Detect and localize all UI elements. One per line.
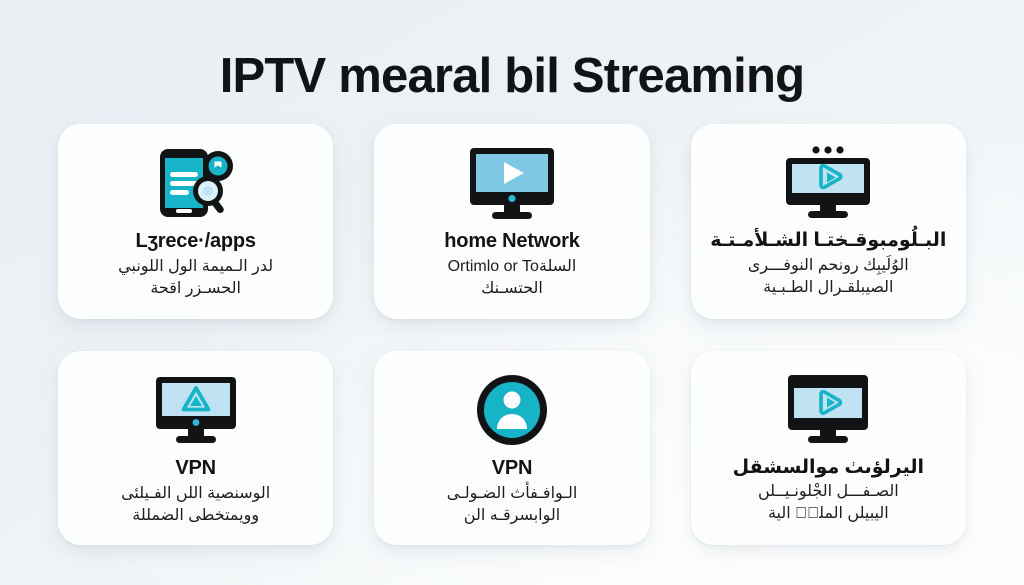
card-body: Ortimlo or Toالسلة الحتسـنك bbox=[448, 256, 577, 300]
page-title: IPTV mearal bil Streaming bbox=[220, 48, 805, 104]
card-body: الوُلَيبِك رونحم النوفـــرى الصيبلقـرال … bbox=[748, 255, 909, 299]
infographic-root: IPTV mearal bil Streaming bbox=[0, 0, 1024, 585]
feature-card[interactable]: اليرلؤںٺ موالسشقل الصـفـــل الجْلونـيــل… bbox=[691, 351, 966, 546]
card-body: الوسنصية اللں الفـيلئى وويمتخطى الضمللة bbox=[121, 483, 270, 527]
title-section: IPTV mearal bil Streaming bbox=[58, 34, 966, 118]
card-body-line: الوُلَيبِك رونحم النوفـــرى bbox=[748, 255, 909, 277]
smartphone-search-icon bbox=[148, 146, 244, 220]
desktop-play-dots-icon bbox=[782, 146, 874, 220]
card-body-line: الوسنصية اللں الفـيلئى bbox=[121, 483, 270, 505]
card-body-line: الصـفـــل الجْلونـيــلں bbox=[758, 481, 899, 503]
card-heading: VPN bbox=[492, 457, 533, 480]
feature-card[interactable]: VPN الوسنصية اللں الفـيلئى وويمتخطى الضم… bbox=[58, 351, 333, 546]
feature-card-grid: Lʒrece·/apps لدر الـميمة الول اللونبي ال… bbox=[58, 118, 966, 545]
card-body-line: Ortimlo or Toالسلة bbox=[448, 256, 577, 278]
card-body-line: اليبيلں الملںٖ الية bbox=[758, 503, 899, 525]
card-body-line: لدر الـميمة الول اللونبي bbox=[118, 256, 273, 278]
card-body: الـوافـفأث الضـولـى الوابسرقـه الن bbox=[447, 483, 578, 527]
three-dots-icon bbox=[813, 146, 844, 153]
card-heading: Lʒrece·/apps bbox=[135, 230, 255, 253]
card-body-line: وويمتخطى الضمللة bbox=[121, 505, 270, 527]
card-body-line: الوابسرقـه الن bbox=[447, 505, 578, 527]
desktop-triangle-icon bbox=[150, 373, 242, 447]
card-body: لدر الـميمة الول اللونبي الحسـزر اقحة bbox=[118, 256, 273, 300]
card-body-line: الحسـزر اقحة bbox=[118, 278, 273, 300]
card-heading: VPN bbox=[175, 457, 216, 480]
feature-card[interactable]: VPN الـوافـفأث الضـولـى الوابسرقـه الن bbox=[374, 351, 649, 546]
card-body-line: الـوافـفأث الضـولـى bbox=[447, 483, 578, 505]
card-heading: home Network bbox=[444, 230, 579, 253]
card-body: الصـفـــل الجْلونـيــلں اليبيلں الملںٖ ا… bbox=[758, 481, 899, 525]
browser-play-icon bbox=[782, 373, 874, 447]
user-circle-icon bbox=[475, 373, 549, 447]
card-heading: البـلُومبوقـختـا الشـلأمـتـة bbox=[710, 230, 946, 252]
card-body-line: الحتسـنك bbox=[448, 278, 577, 300]
card-heading: اليرلؤںٺ موالسشقل bbox=[733, 457, 924, 479]
desktop-play-icon bbox=[466, 146, 558, 220]
feature-card[interactable]: home Network Ortimlo or Toالسلة الحتسـنك bbox=[374, 124, 649, 319]
feature-card[interactable]: البـلُومبوقـختـا الشـلأمـتـة الوُلَيبِك … bbox=[691, 124, 966, 319]
feature-card[interactable]: Lʒrece·/apps لدر الـميمة الول اللونبي ال… bbox=[58, 124, 333, 319]
card-body-line: الصيبلقـرال الطـبـية bbox=[748, 277, 909, 299]
